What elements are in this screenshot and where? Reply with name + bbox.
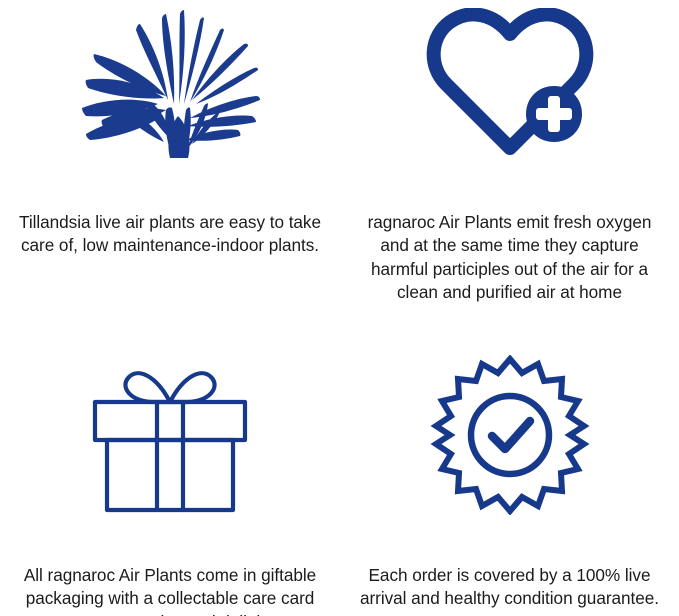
air-plant-icon <box>80 8 260 160</box>
feature-text-oxygen: ragnaroc Air Plants emit fresh oxygen an… <box>343 211 677 305</box>
feature-text-care: Tillandsia live air plants are easy to t… <box>5 211 335 258</box>
gift-box-icon <box>87 355 253 515</box>
heart-plus-icon <box>424 8 596 160</box>
guarantee-badge-icon <box>430 355 590 515</box>
feature-cell-oxygen: ragnaroc Air Plants emit fresh oxygen an… <box>340 0 679 308</box>
feature-grid: Tillandsia live air plants are easy to t… <box>0 0 679 616</box>
feature-cell-care: Tillandsia live air plants are easy to t… <box>0 0 340 308</box>
feature-cell-guarantee: Each order is covered by a 100% live arr… <box>340 308 679 616</box>
feature-text-packaging: All ragnaroc Air Plants come in giftable… <box>5 564 335 616</box>
plus-badge <box>526 86 582 142</box>
feature-text-guarantee: Each order is covered by a 100% live arr… <box>343 564 677 611</box>
feature-cell-packaging: All ragnaroc Air Plants come in giftable… <box>0 308 340 616</box>
